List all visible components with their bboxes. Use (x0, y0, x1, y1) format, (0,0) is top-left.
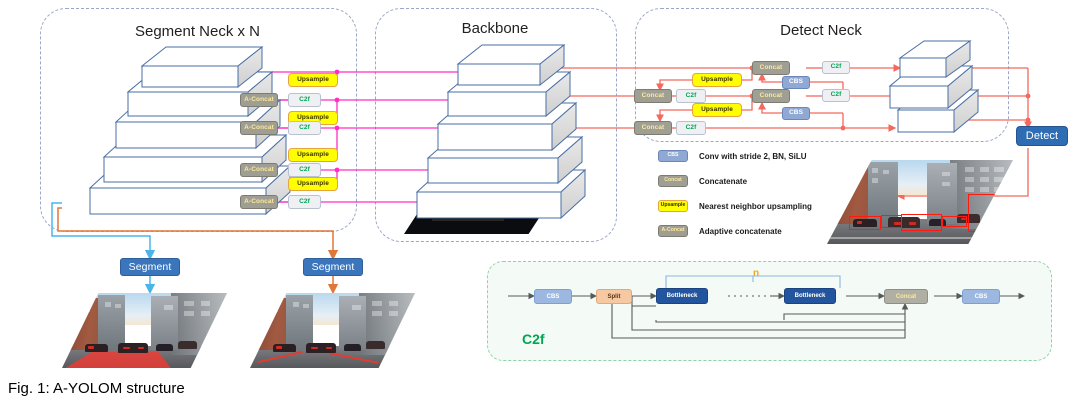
c2f-detail-cbs-in[interactable]: CBS (534, 289, 572, 304)
panel-title-segment-neck: Segment Neck x N (40, 23, 355, 40)
legend-label-cbs: Conv with stride 2, BN, SiLU (699, 152, 807, 161)
legend-swatch-upsample: Upsample (658, 200, 688, 212)
c2f-detail-bottleneck-last[interactable]: Bottleneck (784, 288, 836, 304)
c2f-detail-label: C2f (522, 331, 545, 347)
panel-title-detect-neck: Detect Neck (635, 22, 1007, 39)
detect-cbs-upper[interactable]: CBS (782, 76, 810, 89)
detect-c2f-top[interactable]: C2f (822, 61, 850, 74)
feature-pyramids (0, 0, 1080, 412)
detect-concat-top[interactable]: Concat (752, 61, 790, 75)
c2f-repeat-count: n (753, 268, 759, 279)
segment-upsample-1[interactable]: Upsample (288, 73, 338, 87)
segment-c2f-4[interactable]: C2f (288, 195, 321, 209)
segment-aconcat-3[interactable]: A-Concat (240, 163, 278, 177)
legend-swatch-concat: Concat (658, 175, 688, 187)
segment-head-left-button[interactable]: Segment (120, 258, 180, 276)
legend-label-upsample: Nearest neighbor upsampling (699, 202, 812, 211)
c2f-detail-split[interactable]: Split (596, 289, 632, 304)
segment-c2f-1[interactable]: C2f (288, 93, 321, 107)
detect-concat-left-mid[interactable]: Concat (634, 89, 672, 103)
legend-label-aconcat: Adaptive concatenate (699, 227, 782, 236)
detect-c2f-mid[interactable]: C2f (822, 89, 850, 102)
segment-aconcat-4[interactable]: A-Concat (240, 195, 278, 209)
legend-label-concat: Concatenate (699, 177, 747, 186)
legend: CBS Conv with stride 2, BN, SiLU Concat … (658, 150, 888, 246)
legend-item-upsample: Upsample Nearest neighbor upsampling (658, 200, 812, 212)
figure-caption: Fig. 1: A-YOLOM structure (8, 380, 185, 397)
c2f-detail-concat[interactable]: Concat (884, 289, 928, 304)
detect-c2f-left-bottom[interactable]: C2f (676, 121, 706, 135)
segment-aconcat-2[interactable]: A-Concat (240, 121, 278, 135)
detect-upsample-upper[interactable]: Upsample (692, 73, 742, 87)
detect-concat-mid[interactable]: Concat (752, 89, 790, 103)
legend-swatch-cbs: CBS (658, 150, 688, 162)
segment-head-right-button[interactable]: Segment (303, 258, 363, 276)
figure-canvas: Segment Neck x N Backbone Detect Neck (0, 0, 1080, 412)
detect-head-button[interactable]: Detect (1016, 126, 1068, 146)
c2f-detail-cbs-out[interactable]: CBS (962, 289, 1000, 304)
detect-cbs-lower[interactable]: CBS (782, 107, 810, 120)
segment-c2f-3[interactable]: C2f (288, 163, 321, 177)
segment-c2f-2[interactable]: C2f (288, 121, 321, 135)
segment-aconcat-1[interactable]: A-Concat (240, 93, 278, 107)
segment-upsample-4[interactable]: Upsample (288, 177, 338, 191)
panel-title-backbone: Backbone (375, 20, 615, 37)
legend-item-cbs: CBS Conv with stride 2, BN, SiLU (658, 150, 807, 162)
detect-concat-left-bottom[interactable]: Concat (634, 121, 672, 135)
c2f-detail-bottleneck-first[interactable]: Bottleneck (656, 288, 708, 304)
legend-item-aconcat: A-Concat Adaptive concatenate (658, 225, 782, 237)
legend-swatch-aconcat: A-Concat (658, 225, 688, 237)
detect-c2f-left-mid[interactable]: C2f (676, 89, 706, 103)
segment-upsample-3[interactable]: Upsample (288, 148, 338, 162)
detect-upsample-lower[interactable]: Upsample (692, 103, 742, 117)
legend-item-concat: Concat Concatenate (658, 175, 747, 187)
